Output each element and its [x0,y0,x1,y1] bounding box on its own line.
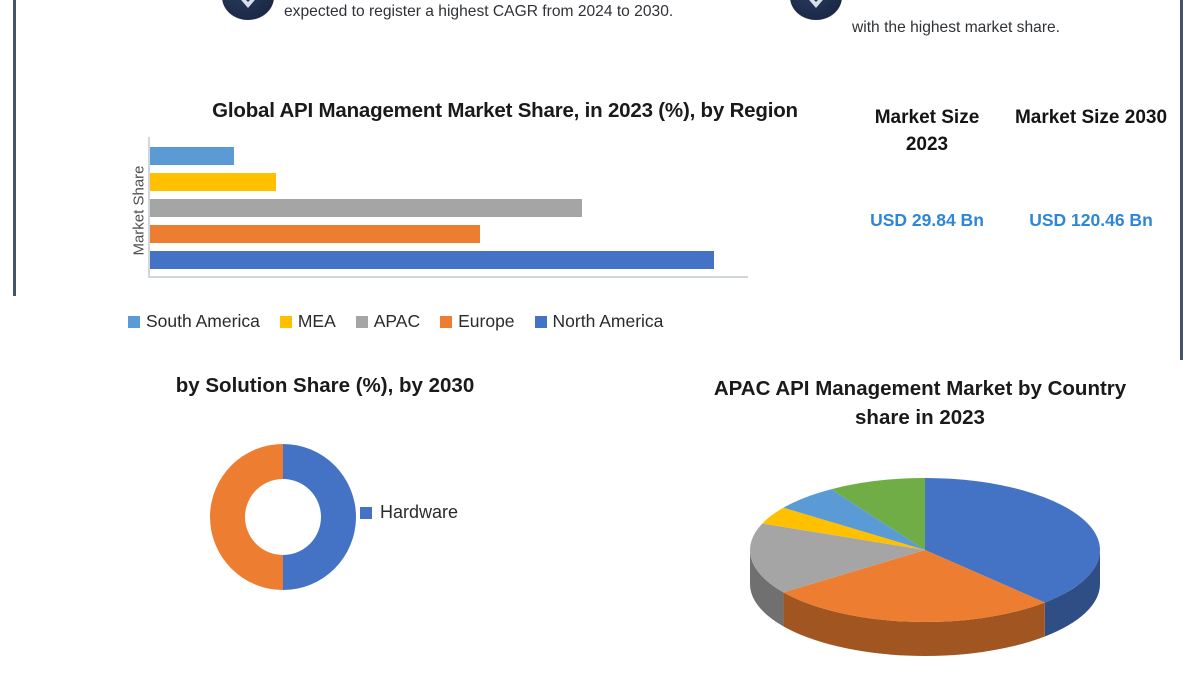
legend-item-north-america[interactable]: North America [535,311,664,332]
bar-chart-legend: South AmericaMEAAPACEuropeNorth America [128,311,663,332]
legend-item-apac[interactable]: APAC [356,311,420,332]
legend-swatch-mea [280,316,292,328]
legend-swatch-north-america [535,316,547,328]
pie-chart-title: APAC API Management Market by Country sh… [700,374,1140,432]
bar-north-america [150,251,714,269]
regional-market-share-bar-chart: Global API Management Market Share, in 2… [90,90,830,340]
market-size-2023-column: Market Size 2023 USD 29.84 Bn [852,104,1002,158]
bar-mea [150,173,276,191]
legend-item-south-america[interactable]: South America [128,311,260,332]
bar-chart-title: Global API Management Market Share, in 2… [195,96,815,125]
donut-slice-other [210,444,283,590]
legend-label-mea: MEA [298,311,336,332]
bar-apac [150,199,582,217]
bar-south-america [150,147,234,165]
donut-chart-title: by Solution Share (%), by 2030 [100,374,550,398]
legend-label-europe: Europe [458,311,514,332]
legend-label-apac: APAC [374,311,420,332]
legend-swatch-apac [356,316,368,328]
bar-europe [150,225,480,243]
chevron-down-badge-icon [222,0,274,20]
legend-label-hardware: Hardware [380,502,458,523]
chevron-down-badge-icon [790,0,842,20]
market-size-2030-column: Market Size 2030 USD 120.46 Bn [1012,104,1170,131]
market-size-2030-value: USD 120.46 Bn [1012,210,1170,231]
bar-chart-y-axis-label: Market Share [131,156,148,266]
solution-share-donut-chart: by Solution Share (%), by 2030 [60,370,620,600]
donut-slice-hardware [283,444,356,590]
pie-chart-graphic [735,478,1135,678]
legend-swatch-europe [440,316,452,328]
callout-cagr-text: expected to register a highest CAGR from… [284,0,673,23]
callout-market-share-text: with the highest market share. [852,0,1060,39]
legend-item-europe[interactable]: Europe [440,311,514,332]
legend-label-north-america: North America [553,311,664,332]
legend-swatch-hardware [360,507,372,519]
market-size-2023-heading: Market Size 2023 [852,104,1002,158]
callout-cagr: expected to register a highest CAGR from… [222,0,767,23]
donut-chart-graphic [148,440,448,610]
donut-chart-legend: Hardware [360,502,458,523]
apac-country-share-pie-chart: APAC API Management Market by Country sh… [690,370,1190,600]
callout-strip: expected to register a highest CAGR from… [0,0,1200,62]
legend-swatch-south-america [128,316,140,328]
x-axis-line [148,276,748,278]
callout-market-share: with the highest market share. [790,0,1175,39]
bar-chart-plot-area [148,145,788,277]
legend-label-south-america: South America [146,311,260,332]
market-size-2023-value: USD 29.84 Bn [852,210,1002,231]
legend-item-mea[interactable]: MEA [280,311,336,332]
market-size-2030-heading: Market Size 2030 [1012,104,1170,131]
market-size-panel: Market Size 2023 USD 29.84 Bn Market Siz… [852,104,1178,254]
